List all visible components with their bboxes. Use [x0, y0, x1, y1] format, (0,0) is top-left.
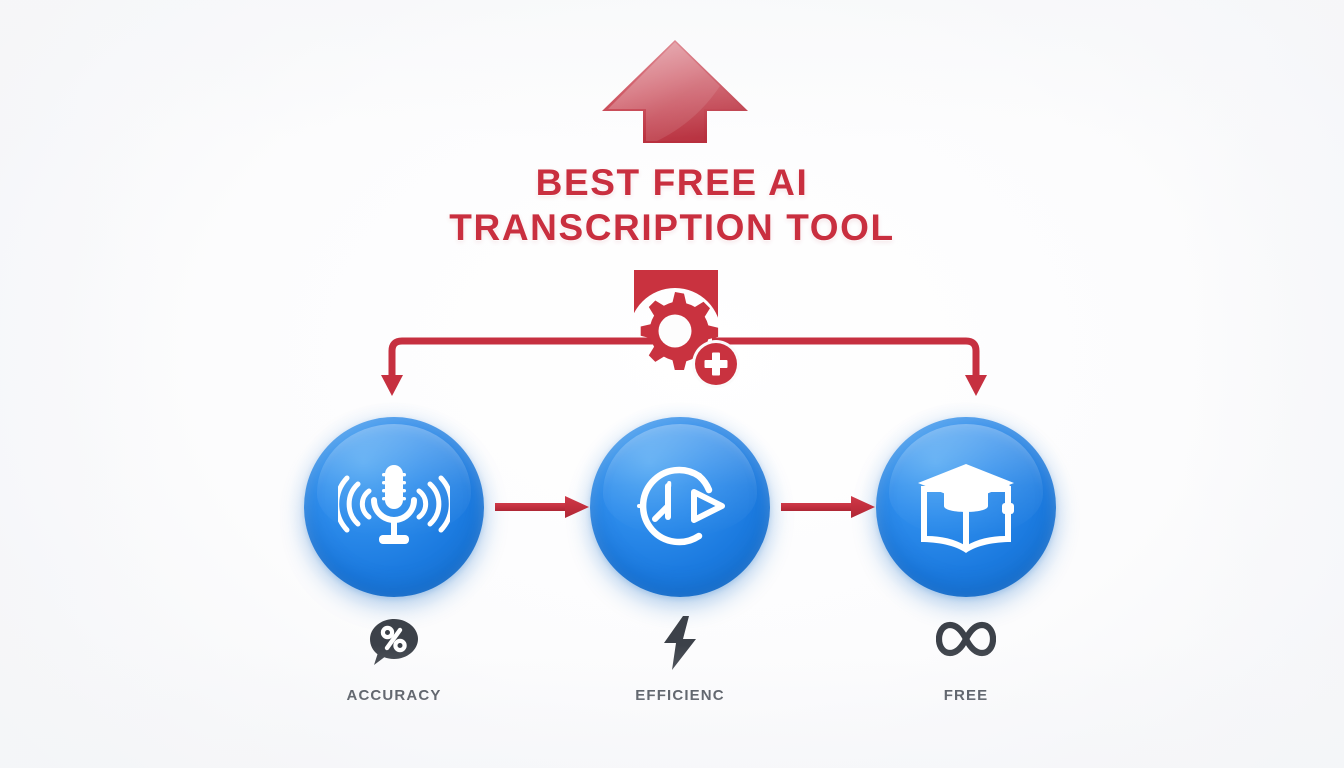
percent-bubble-icon — [366, 617, 422, 669]
lightning-bolt-icon — [659, 615, 701, 671]
feature-icon-wrap-3 — [836, 620, 1096, 658]
feature-icon-wrap-1 — [264, 617, 524, 669]
node-circle-graduation-book[interactable] — [876, 417, 1056, 597]
title-line-1: BEST FREE AI — [0, 160, 1344, 205]
feature-label-efficiency: EFFICIENC — [550, 687, 810, 704]
clock-play-icon — [625, 457, 735, 557]
infographic-canvas: BEST FREE AI TRANSCRIPTION TOOL — [0, 0, 1344, 768]
arrow-right-icon-2 — [781, 494, 877, 520]
node-circle-microphone[interactable] — [304, 417, 484, 597]
up-arrow-icon — [600, 38, 750, 143]
feature-icon-wrap-2 — [550, 615, 810, 671]
microphone-icon — [338, 455, 450, 559]
branch-arrow-left — [378, 330, 658, 402]
branch-arrow-right — [710, 330, 990, 402]
arrow-right-icon-1 — [495, 494, 591, 520]
infinity-icon — [936, 620, 996, 658]
node-circle-clock-play[interactable] — [590, 417, 770, 597]
graduation-cap-book-icon — [911, 456, 1021, 558]
gear-plus-icon — [620, 266, 750, 396]
title-line-2: TRANSCRIPTION TOOL — [0, 205, 1344, 250]
feature-label-accuracy: ACCURACY — [264, 687, 524, 704]
page-title: BEST FREE AI TRANSCRIPTION TOOL — [0, 160, 1344, 250]
feature-label-free: FREE — [836, 687, 1096, 704]
